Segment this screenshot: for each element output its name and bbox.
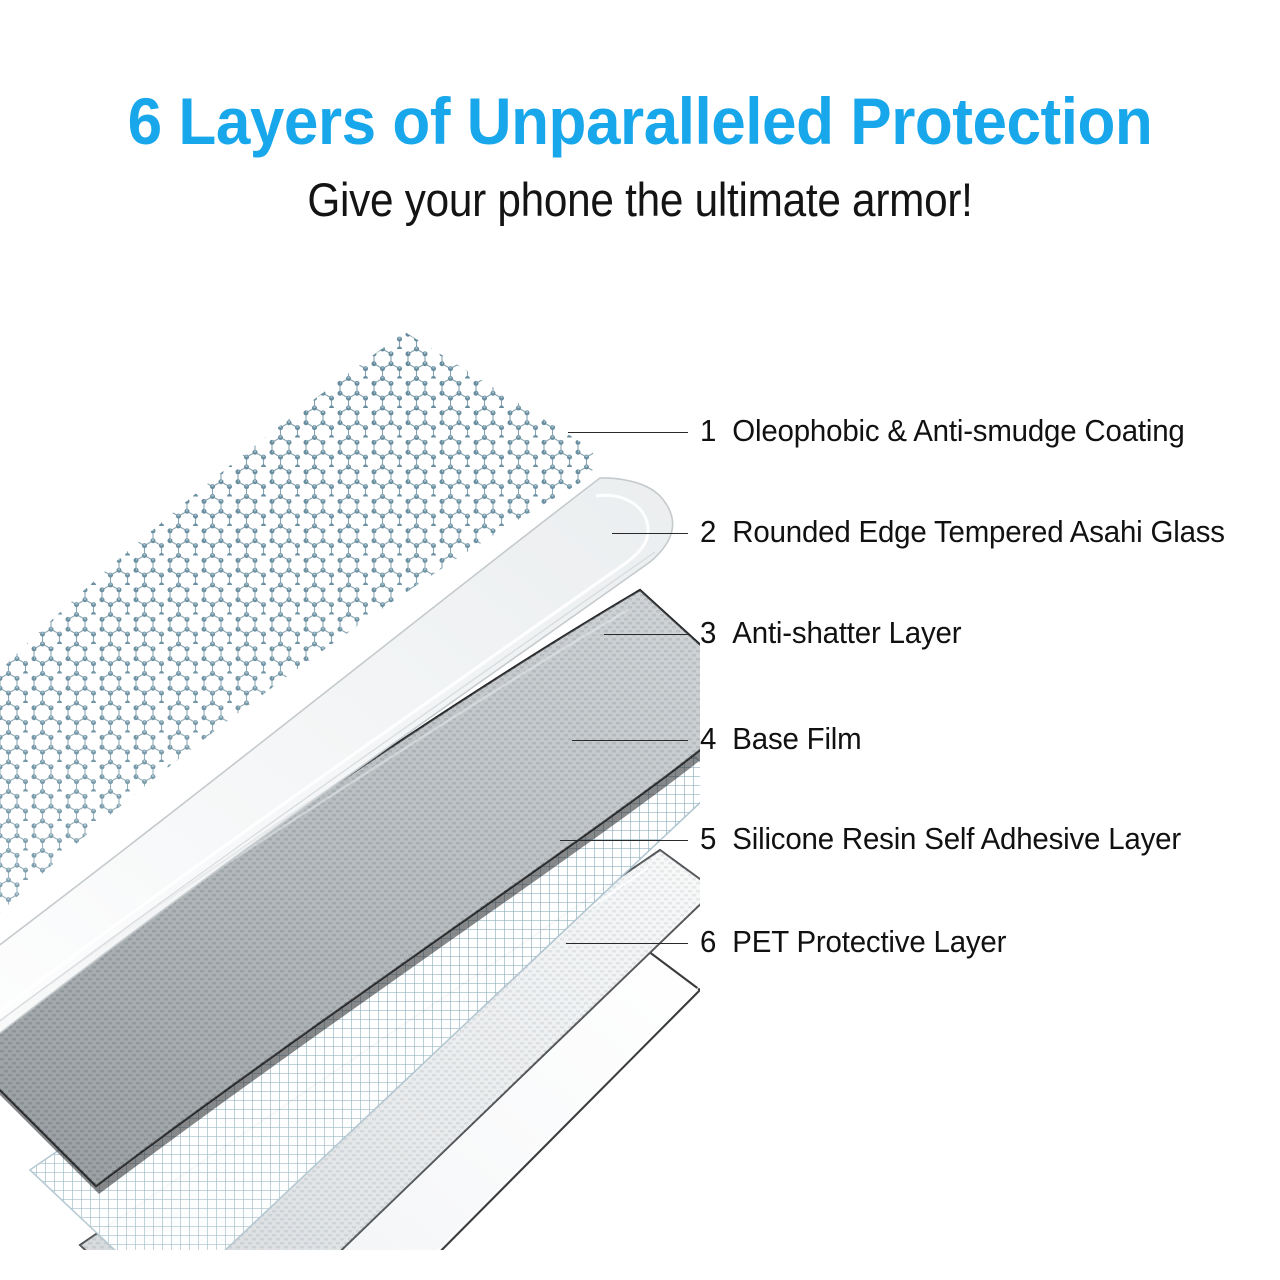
callout-text-1[interactable]: 1Oleophobic & Anti-smudge Coating (700, 411, 1185, 451)
callout-number-1: 1 (700, 411, 717, 451)
callout-number-2: 2 (700, 512, 717, 552)
callout-text-3[interactable]: 3Anti-shatter Layer (700, 613, 961, 653)
page-title: 6 Layers of Unparalleled Protection (38, 0, 1241, 154)
callout-text-2[interactable]: 2Rounded Edge Tempered Asahi Glass (700, 512, 1225, 552)
leader-line-5 (560, 840, 688, 841)
layer-stack-diagram (0, 290, 700, 1250)
callout-label-5: Silicone Resin Self Adhesive Layer (717, 819, 1181, 859)
callout-label-6: PET Protective Layer (717, 922, 1006, 962)
exploded-stack-illustration (0, 290, 700, 1250)
page-subtitle: Give your phone the ultimate armor! (64, 154, 1216, 223)
leader-line-1 (568, 432, 688, 433)
leader-line-6 (566, 943, 688, 944)
callout-label-1: Oleophobic & Anti-smudge Coating (717, 411, 1185, 451)
callout-text-6[interactable]: 6PET Protective Layer (700, 922, 1006, 962)
callout-number-5: 5 (700, 819, 717, 859)
callout-label-4: Base Film (717, 719, 861, 759)
leader-line-3 (604, 634, 688, 635)
callout-number-6: 6 (700, 922, 717, 962)
leader-line-2 (612, 533, 688, 534)
callout-label-2: Rounded Edge Tempered Asahi Glass (717, 512, 1225, 552)
leader-line-4 (572, 740, 688, 741)
callout-number-3: 3 (700, 613, 717, 653)
callout-label-3: Anti-shatter Layer (717, 613, 961, 653)
header: 6 Layers of Unparalleled Protection Give… (0, 0, 1280, 223)
callout-number-4: 4 (700, 719, 717, 759)
callout-text-5[interactable]: 5Silicone Resin Self Adhesive Layer (700, 819, 1181, 859)
callout-text-4[interactable]: 4Base Film (700, 719, 862, 759)
